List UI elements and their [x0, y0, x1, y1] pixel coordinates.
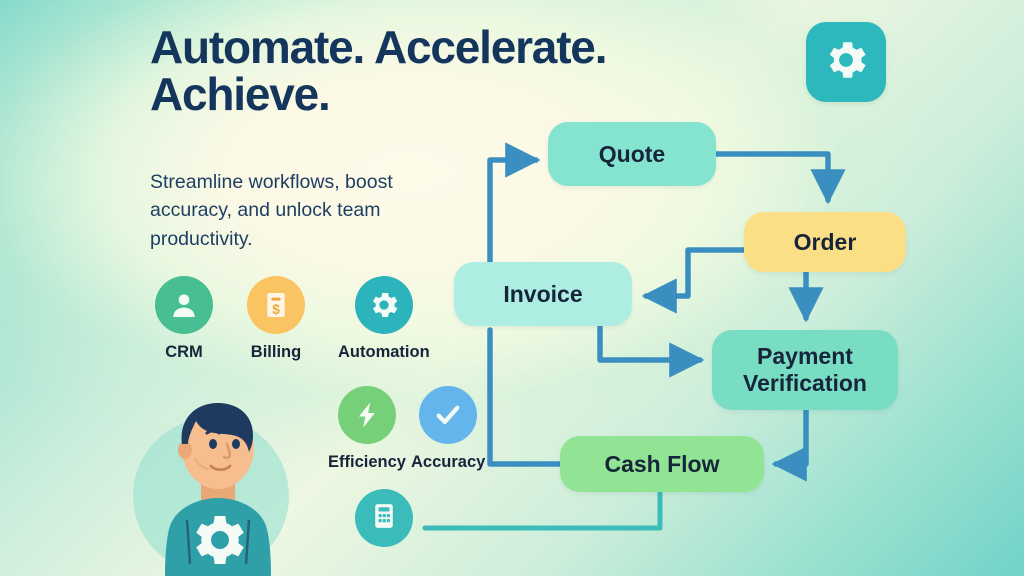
- flow-node-cash-flow[interactable]: Cash Flow: [560, 436, 764, 492]
- flow-node-quote[interactable]: Quote: [548, 122, 716, 186]
- edge-invoice-to-payment: [600, 326, 700, 360]
- edge-cashflow-loop: [490, 330, 560, 464]
- edge-quote-to-order: [716, 154, 828, 200]
- flow-node-label: Invoice: [503, 281, 582, 308]
- edge-cashflow-to-calculator: [425, 492, 660, 528]
- edge-order-to-invoice: [646, 250, 744, 296]
- flow-node-order[interactable]: Order: [744, 212, 906, 272]
- edge-payment-to-cashflow: [776, 410, 806, 464]
- flow-node-label: Quote: [599, 141, 665, 168]
- edge-invoice-to-quote: [490, 160, 536, 262]
- flow-node-payment-verification[interactable]: Payment Verification: [712, 330, 898, 410]
- flow-node-invoice[interactable]: Invoice: [454, 262, 632, 326]
- flow-node-label: Payment Verification: [743, 343, 867, 396]
- poster-canvas: Automate. Accelerate. Achieve. Streamlin…: [0, 0, 1024, 576]
- flow-node-label: Cash Flow: [604, 451, 719, 478]
- flow-node-label: Order: [794, 229, 857, 256]
